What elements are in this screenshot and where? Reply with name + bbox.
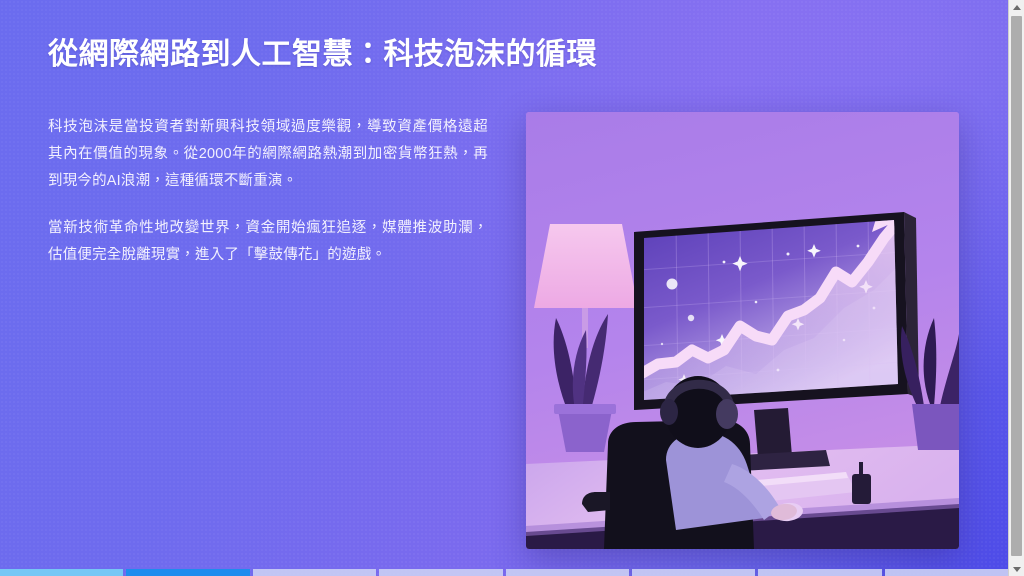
presentation-slide: 從網際網路到人工智慧：科技泡沫的循環 科技泡沫是當投資者對新興科技領域過度樂觀，…: [0, 0, 1024, 576]
scroll-up-button[interactable]: [1009, 0, 1024, 14]
slide-illustration: [526, 112, 959, 549]
paragraph-1: 科技泡沫是當投資者對新興科技領域過度樂觀，導致資產價格遠超其內在價值的現象。從2…: [48, 114, 488, 194]
scroll-up-arrow-icon: [1013, 5, 1021, 10]
slide-progress-bar[interactable]: [0, 569, 1008, 576]
progress-segment-4[interactable]: [379, 569, 502, 576]
vertical-scrollbar[interactable]: [1008, 0, 1024, 576]
desk-scene-illustration: [526, 112, 959, 549]
progress-segment-7[interactable]: [758, 569, 881, 576]
scroll-down-arrow-icon: [1013, 567, 1021, 572]
page-title: 從網際網路到人工智慧：科技泡沫的循環: [48, 36, 500, 74]
progress-segment-2[interactable]: [126, 569, 249, 576]
progress-segment-5[interactable]: [506, 569, 629, 576]
scroll-down-button[interactable]: [1009, 562, 1024, 576]
scrollbar-thumb[interactable]: [1011, 16, 1022, 556]
slide-text-column: 從網際網路到人工智慧：科技泡沫的循環 科技泡沫是當投資者對新興科技領域過度樂觀，…: [48, 36, 500, 268]
paragraph-2: 當新技術革命性地改變世界，資金開始瘋狂追逐，媒體推波助瀾，估值便完全脫離現實，進…: [48, 215, 488, 269]
progress-segment-6[interactable]: [632, 569, 755, 576]
slide-body: 科技泡沫是當投資者對新興科技領域過度樂觀，導致資產價格遠超其內在價值的現象。從2…: [48, 114, 488, 268]
progress-segment-8[interactable]: [885, 569, 1008, 576]
progress-segment-3[interactable]: [253, 569, 376, 576]
progress-segment-1[interactable]: [0, 569, 123, 576]
